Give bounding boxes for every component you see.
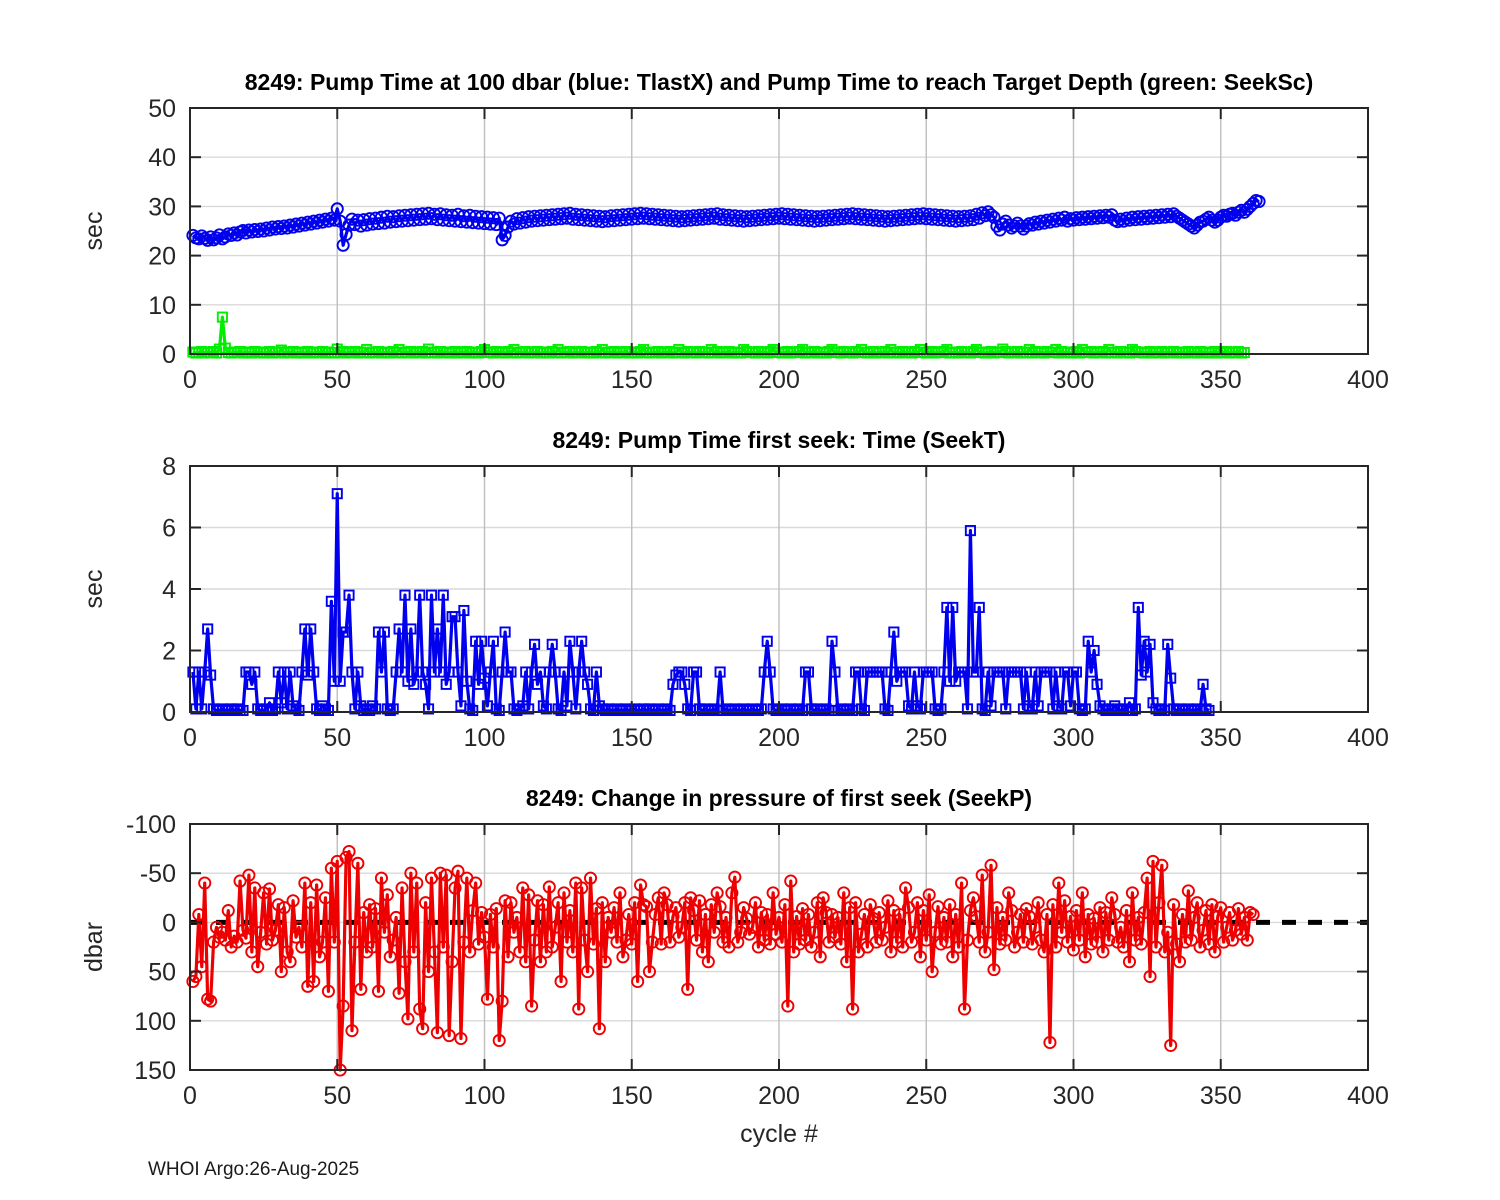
x-tick-label: 400 (1347, 1082, 1389, 1110)
data-marker (1231, 0, 1240, 9)
data-layer (187, 0, 1264, 1076)
data-layer (187, 0, 1264, 358)
x-tick-label: 50 (323, 366, 351, 394)
data-marker (1228, 0, 1237, 9)
x-tick-label: 300 (1053, 724, 1095, 752)
data-marker (1249, 0, 1258, 9)
data-marker (1249, 0, 1258, 9)
x-tick-label: 150 (611, 1082, 653, 1110)
series-markers-SeekSc (188, 0, 1263, 358)
y-tick-label: 40 (148, 144, 176, 172)
data-marker (1240, 0, 1249, 9)
y-tick-label: 10 (148, 292, 176, 320)
series-TlastX (187, 195, 1264, 251)
y-tick-label: 8 (162, 453, 176, 481)
series-line-SeekP (193, 852, 1253, 1070)
y-tick-label: 2 (162, 638, 176, 666)
series-SeekSc (188, 0, 1263, 358)
x-tick-label: 350 (1200, 724, 1242, 752)
x-tick-label: 0 (183, 1082, 197, 1110)
y-axis-label-1: sec (80, 212, 108, 251)
x-tick-label: 100 (464, 1082, 506, 1110)
series-SeekP (187, 0, 1264, 1076)
data-marker (1251, 0, 1260, 9)
y-tick-label: -100 (126, 811, 176, 839)
y-tick-label: 4 (162, 576, 176, 604)
x-tick-label: 300 (1053, 366, 1095, 394)
x-tick-label: 350 (1200, 366, 1242, 394)
x-tick-label: 200 (758, 366, 800, 394)
data-marker (1210, 0, 1219, 9)
y-tick-label: -50 (140, 860, 176, 888)
series-markers-TlastX (187, 195, 1264, 251)
data-marker (1243, 0, 1252, 9)
data-marker (1250, 0, 1261, 6)
x-tick-label: 250 (905, 1082, 947, 1110)
data-marker (1213, 0, 1222, 9)
data-marker (1254, 0, 1263, 9)
chart-panel-1: 8249: Pump Time at 100 dbar (blue: Tlast… (80, 0, 1389, 394)
x-tick-label: 50 (323, 724, 351, 752)
x-tick-label: 350 (1200, 1082, 1242, 1110)
data-marker (1237, 0, 1246, 9)
data-marker (1234, 0, 1243, 9)
x-tick-label: 250 (905, 724, 947, 752)
data-marker (1251, 0, 1260, 9)
x-tick-label: 100 (464, 366, 506, 394)
y-axis-label-3: dbar (80, 922, 108, 972)
x-tick-label: 400 (1347, 366, 1389, 394)
figure-container: 8249: Pump Time at 100 dbar (blue: Tlast… (0, 0, 1500, 1200)
y-tick-label: 6 (162, 515, 176, 543)
y-tick-label: 20 (148, 243, 176, 271)
y-tick-label: 50 (148, 959, 176, 987)
panel-title-3: 8249: Change in pressure of first seek (… (526, 785, 1032, 811)
data-marker (1243, 0, 1252, 9)
footer-credit: WHOI Argo:26-Aug-2025 (148, 1159, 359, 1180)
y-tick-label: 30 (148, 193, 176, 221)
panel-title-2: 8249: Pump Time first seek: Time (SeekT) (553, 427, 1006, 453)
x-tick-label: 50 (323, 1082, 351, 1110)
multi-panel-chart: 8249: Pump Time at 100 dbar (blue: Tlast… (0, 0, 1500, 1200)
chart-panel-2: 8249: Pump Time first seek: Time (SeekT)… (80, 0, 1389, 752)
x-tick-label: 300 (1053, 1082, 1095, 1110)
data-marker (1216, 0, 1225, 9)
x-tick-label: 100 (464, 724, 506, 752)
data-marker (1207, 0, 1216, 9)
data-marker (1222, 0, 1231, 9)
x-tick-label: 0 (183, 366, 197, 394)
chart-panel-3: 8249: Change in pressure of first seek (… (80, 0, 1389, 1148)
panel-title-1: 8249: Pump Time at 100 dbar (blue: Tlast… (245, 69, 1314, 95)
x-tick-label: 250 (905, 366, 947, 394)
x-tick-label: 150 (611, 366, 653, 394)
data-marker (1254, 0, 1263, 9)
y-tick-label: 150 (134, 1057, 176, 1085)
x-axis-label: cycle # (740, 1120, 818, 1148)
data-marker (1246, 0, 1255, 9)
y-tick-label: 0 (162, 699, 176, 727)
data-marker (1225, 0, 1234, 9)
y-tick-label: 50 (148, 95, 176, 123)
x-tick-label: 200 (758, 724, 800, 752)
data-marker (1246, 0, 1255, 9)
x-tick-label: 0 (183, 724, 197, 752)
x-tick-label: 200 (758, 1082, 800, 1110)
y-tick-label: 100 (134, 1008, 176, 1036)
data-marker (1219, 0, 1228, 9)
y-tick-label: 0 (162, 909, 176, 937)
data-marker (1253, 0, 1264, 6)
y-tick-label: 0 (162, 341, 176, 369)
y-axis-label-2: sec (80, 570, 108, 609)
x-tick-label: 400 (1347, 724, 1389, 752)
x-tick-label: 150 (611, 724, 653, 752)
